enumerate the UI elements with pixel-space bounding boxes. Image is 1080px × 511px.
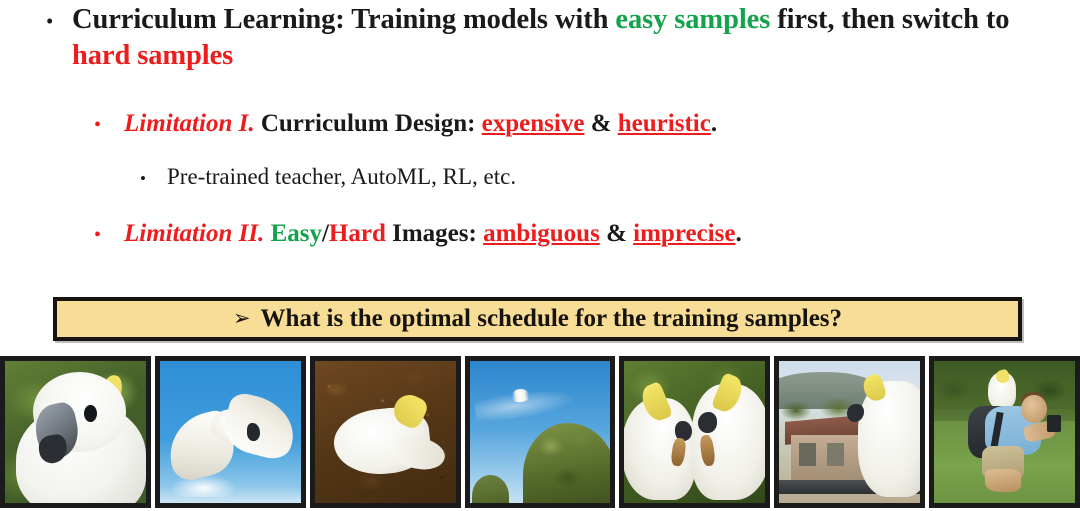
- bird-eye: [84, 405, 97, 422]
- segment-ambiguous: ambiguous: [483, 220, 600, 247]
- callout-question-text: What is the optimal schedule for the tra…: [261, 305, 843, 333]
- segment-text: &: [600, 220, 633, 247]
- arrow-right-bullet-icon: ➢: [233, 308, 251, 329]
- segment-slash: /: [322, 220, 329, 247]
- photo-cockatoo-in-flight: [155, 356, 306, 508]
- house-window: [799, 443, 816, 466]
- segment-imprecise: imprecise: [633, 220, 735, 247]
- photo-cockatoo-head-closeup: [0, 356, 151, 508]
- camera-device: [1047, 415, 1061, 432]
- segment-text: .: [735, 220, 741, 247]
- image-strip: [0, 356, 1080, 508]
- photo-scene: [470, 361, 611, 503]
- photo-scene: [160, 361, 301, 503]
- person-leg: [985, 469, 1022, 492]
- bullet-dot-icon: •: [46, 2, 72, 32]
- tree-canopy-small: [472, 475, 509, 508]
- bird-beak: [247, 423, 260, 440]
- photo-scene: [5, 361, 146, 503]
- segment-text: .: [711, 110, 717, 137]
- photo-cockatoo-on-rail-houses: [774, 356, 925, 508]
- bullet-level2-limitation-1: • Limitation I. Curriculum Design: expen…: [94, 108, 1024, 139]
- house-window: [827, 443, 844, 466]
- bullet-level3-examples: • Pre-trained teacher, AutoML, RL, etc.: [140, 163, 1000, 192]
- segment-easy-samples: easy samples: [615, 4, 770, 35]
- photo-cockatoo-on-soil: [310, 356, 461, 508]
- bullet-dot-red-icon: •: [94, 218, 124, 245]
- bullet-dot-icon: •: [140, 163, 167, 187]
- photo-cockatoo-distant-sky: [465, 356, 616, 508]
- bullet-level2-limitation-2: • Limitation II. Easy/Hard Images: ambig…: [94, 218, 1024, 249]
- segment-text: &: [584, 110, 617, 137]
- segment-easy: Easy: [271, 220, 322, 247]
- segment-hard-samples: hard samples: [72, 40, 233, 71]
- segment-hard: Hard: [329, 220, 386, 247]
- photo-scene: [779, 361, 920, 503]
- person-head: [1021, 395, 1046, 423]
- segment-expensive: expensive: [482, 110, 585, 137]
- photo-two-cockatoos-feeding: [619, 356, 770, 508]
- segment-text: first, then switch to: [770, 4, 1009, 35]
- tree-canopy: [523, 423, 615, 508]
- bullet-level3-text: Pre-trained teacher, AutoML, RL, etc.: [167, 163, 1000, 192]
- photo-scene: [624, 361, 765, 503]
- segment-text: Curriculum Design:: [255, 110, 482, 137]
- photo-scene: [934, 361, 1075, 503]
- segment-text: Curriculum Learning: Training models wit…: [72, 4, 615, 35]
- callout-question-box: ➢ What is the optimal schedule for the t…: [53, 297, 1022, 341]
- segment-text: Images:: [386, 220, 483, 247]
- bullet-level2a-text: Limitation I. Curriculum Design: expensi…: [124, 108, 1024, 139]
- bullet-level1: • Curriculum Learning: Training models w…: [46, 2, 1026, 75]
- slide-canvas: • Curriculum Learning: Training models w…: [0, 0, 1080, 511]
- photo-cockatoo-on-backpack: [929, 356, 1080, 508]
- bullet-dot-red-icon: •: [94, 108, 124, 135]
- segment-limitation-label: Limitation I.: [124, 110, 255, 137]
- photo-scene: [315, 361, 456, 503]
- segment-limitation-label: Limitation II.: [124, 220, 264, 247]
- bullet-level1-text: Curriculum Learning: Training models wit…: [72, 2, 1026, 75]
- bullet-level2b-text: Limitation II. Easy/Hard Images: ambiguo…: [124, 218, 1024, 249]
- segment-heuristic: heuristic: [618, 110, 711, 137]
